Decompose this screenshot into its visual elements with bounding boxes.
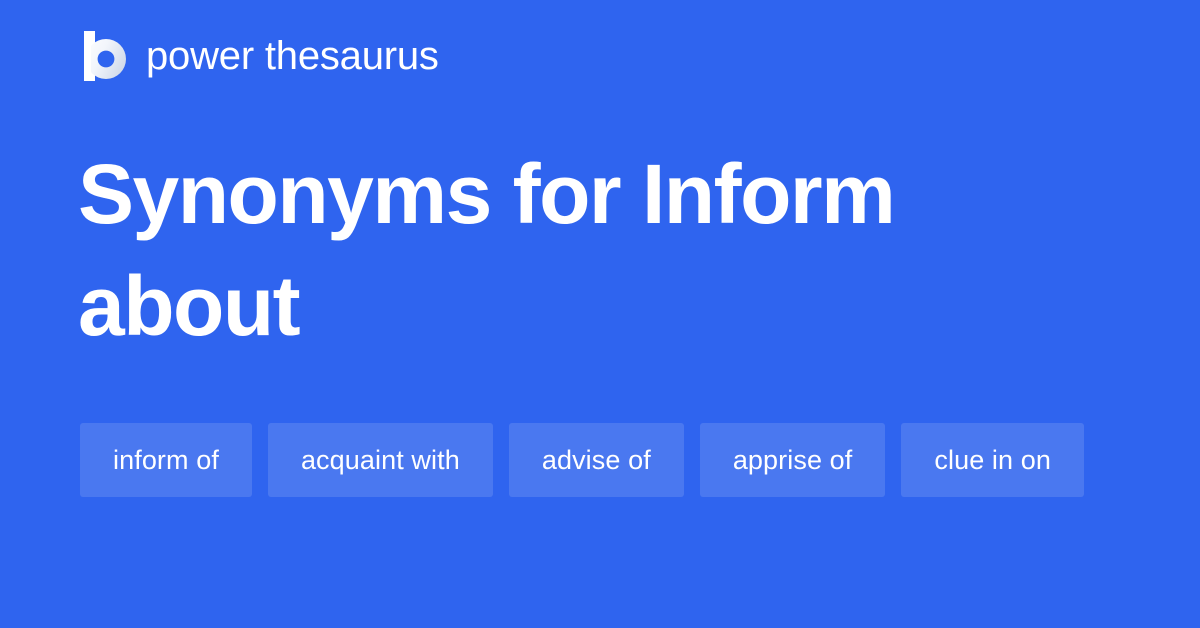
page-title-line-1: Synonyms for Inform (78, 138, 1078, 250)
brand-name: power thesaurus (146, 36, 439, 76)
page-title-line-2: about (78, 250, 1078, 362)
synonym-chip[interactable]: advise of (509, 423, 684, 497)
synonym-chip[interactable]: acquaint with (268, 423, 493, 497)
synonym-chip[interactable]: inform of (80, 423, 252, 497)
synonym-chip[interactable]: clue in on (901, 423, 1084, 497)
brand-header[interactable]: power thesaurus (80, 28, 439, 84)
synonyms-share-card: power thesaurus Synonyms for Inform abou… (0, 0, 1200, 628)
power-thesaurus-b-logo-icon (80, 31, 128, 81)
page-title: Synonyms for Inform about (78, 138, 1078, 362)
synonym-chip[interactable]: apprise of (700, 423, 886, 497)
synonym-chip-list: inform of acquaint with advise of appris… (80, 423, 1140, 497)
